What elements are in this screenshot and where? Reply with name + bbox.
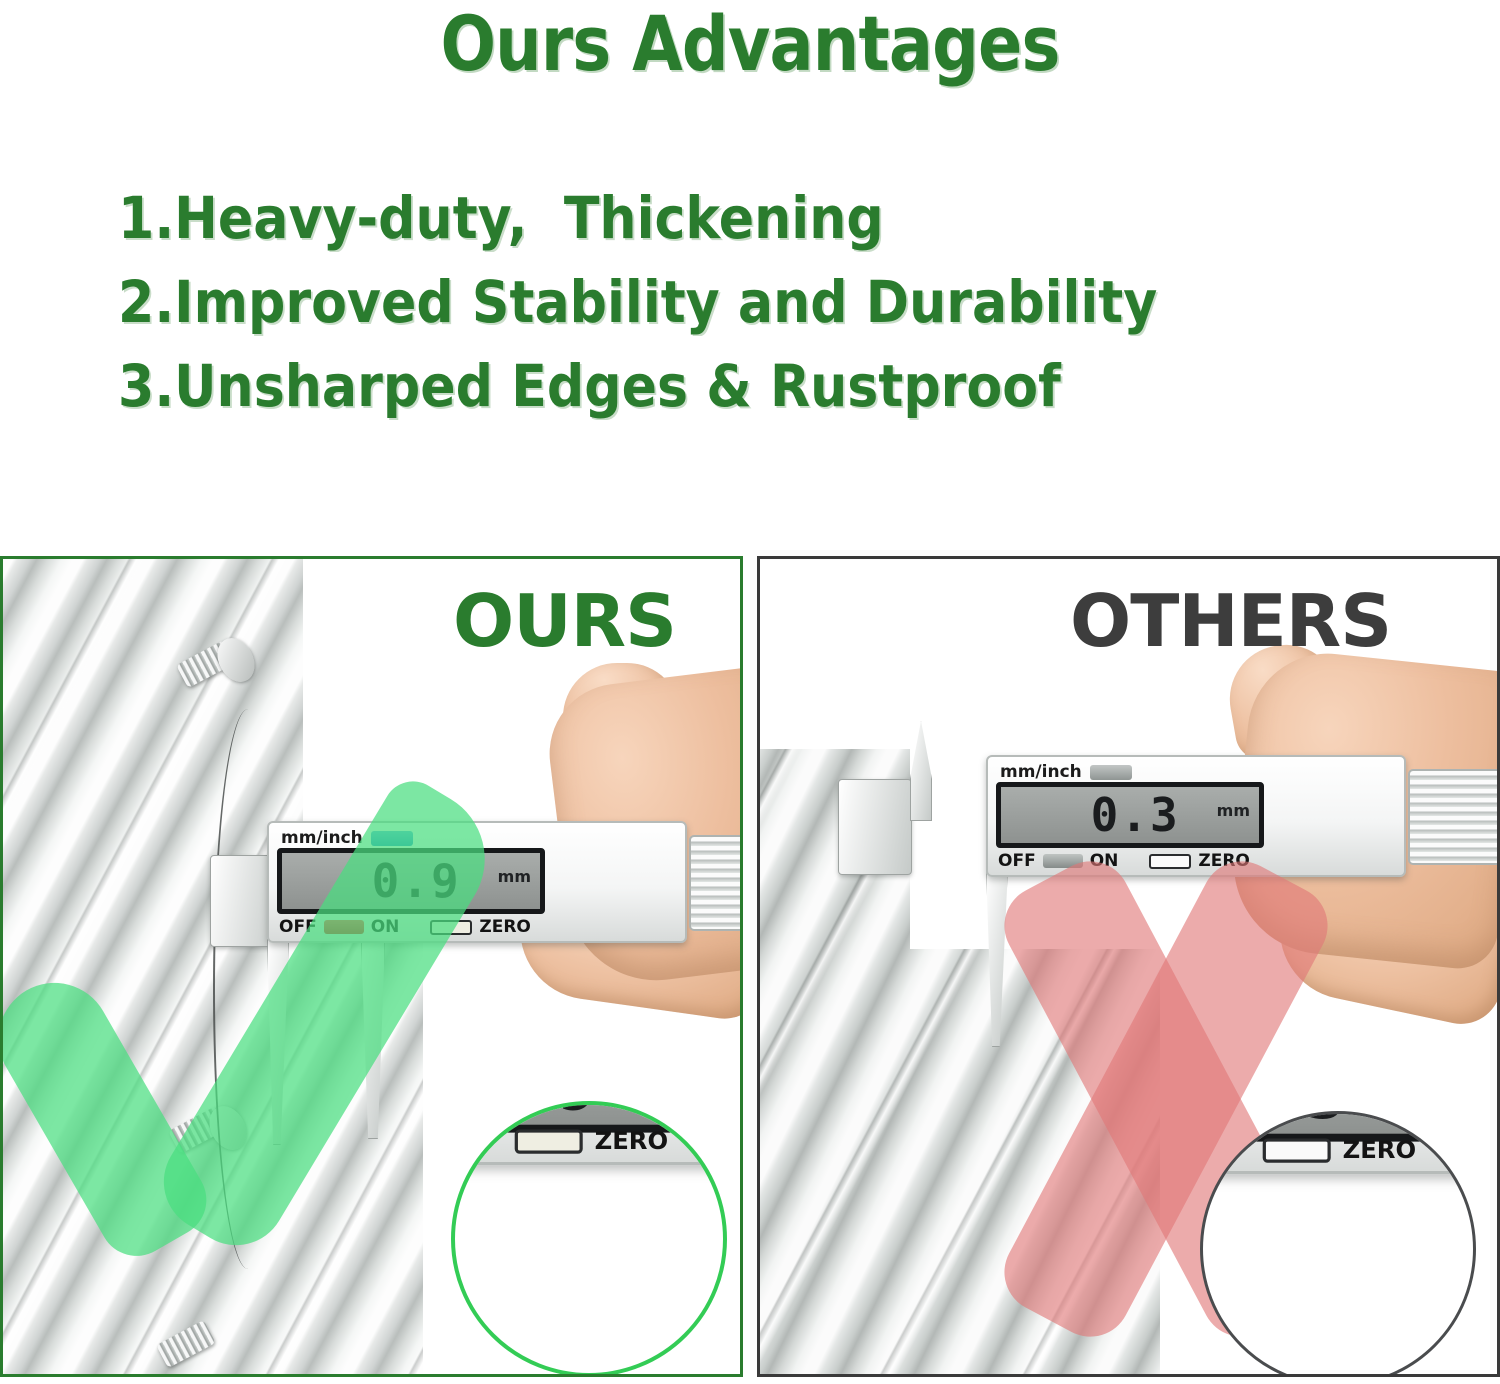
caliper-jaw [838,779,912,875]
off-label: OFF [279,917,317,937]
comparison-panels: OURS mm/inch 0.9 mm [0,556,1500,1380]
mm-inch-label: mm/inch [281,828,363,848]
caliper-reading-value: 0.9 [372,854,461,908]
page-title: Ours Advantages [105,2,1395,86]
caliper-body: mm/inch 0.9 mm OFF ON ZERO [267,821,687,943]
caliper-thumbwheel[interactable] [689,835,743,931]
power-switch[interactable] [324,920,364,934]
inset-reading-value: 0.3 [1216,1111,1349,1134]
advantage-item-3: 3.Unsharped Edges & Rustproof [118,344,1261,428]
inset-caliper-body: mm/inch 0.9 mm ON ZERO [451,1101,727,1165]
caliper-controls-row: OFF ON ZERO [998,851,1250,871]
caliper-thumbwheel[interactable] [1408,769,1500,865]
zero-label: ZERO [1198,851,1249,871]
zero-label: ZERO [1343,1135,1417,1164]
mm-inch-button[interactable] [1090,765,1132,780]
inset-reading-value: 0.9 [468,1101,601,1125]
advantages-infographic: Ours Advantages 1.Heavy-duty, Thickening… [0,0,1500,1384]
inset-controls-row: ON ZERO [1200,1135,1416,1164]
zero-label: ZERO [595,1126,669,1155]
magnified-inset-others: mm/inch 0.3 mm ON ZERO [1200,1111,1476,1377]
caliper-unit-label: mm [498,867,531,886]
caliper-lcd-screen: 0.3 mm [996,782,1264,848]
badge-ours: OURS [453,585,676,657]
caliper-lcd-screen: 0.9 mm [277,848,545,914]
zero-button[interactable] [430,920,472,935]
panel-ours: OURS mm/inch 0.9 mm [0,556,743,1377]
zero-label: ZERO [479,917,530,937]
caliper-reading-value: 0.3 [1091,788,1180,842]
mm-inch-label: mm/inch [1000,762,1082,782]
caliper-body: mm/inch 0.3 mm OFF ON ZERO [986,755,1406,877]
on-label: ON [451,1126,481,1155]
caliper-controls-row: OFF ON ZERO [279,917,531,937]
on-label: ON [1090,851,1119,871]
badge-others: OTHERS [1070,585,1391,657]
inset-zoom-content: mm/inch 0.9 mm ON ZERO [451,1101,727,1165]
mm-inch-button[interactable] [371,831,413,846]
power-switch[interactable] [1043,854,1083,868]
off-label: OFF [998,851,1036,871]
caliper-mode-row: mm/inch [1000,762,1132,782]
zero-button[interactable] [1263,1138,1331,1162]
on-label: ON [371,917,400,937]
panel-others: OTHERS mm/inch 0.3 mm [757,556,1500,1377]
zero-button[interactable] [1149,854,1191,869]
zero-button[interactable] [515,1129,583,1153]
advantage-item-1: 1.Heavy-duty, Thickening [118,176,1261,260]
magnified-inset-ours: mm/inch 0.9 mm ON ZERO [451,1101,727,1377]
inset-zoom-content: mm/inch 0.3 mm ON ZERO [1200,1111,1476,1174]
on-label: ON [1200,1135,1229,1164]
inset-controls-row: ON ZERO [451,1126,668,1155]
inset-caliper-body: mm/inch 0.3 mm ON ZERO [1200,1111,1476,1174]
digital-caliper-others: mm/inch 0.3 mm OFF ON ZERO [930,755,1406,877]
advantages-list: 1.Heavy-duty, Thickening 2.Improved Stab… [118,176,1388,428]
caliper-unit-label: mm [1217,801,1250,820]
advantage-item-2: 2.Improved Stability and Durability [118,260,1261,344]
caliper-mode-row: mm/inch [281,828,413,848]
digital-caliper-ours: mm/inch 0.9 mm OFF ON ZERO [211,821,687,943]
